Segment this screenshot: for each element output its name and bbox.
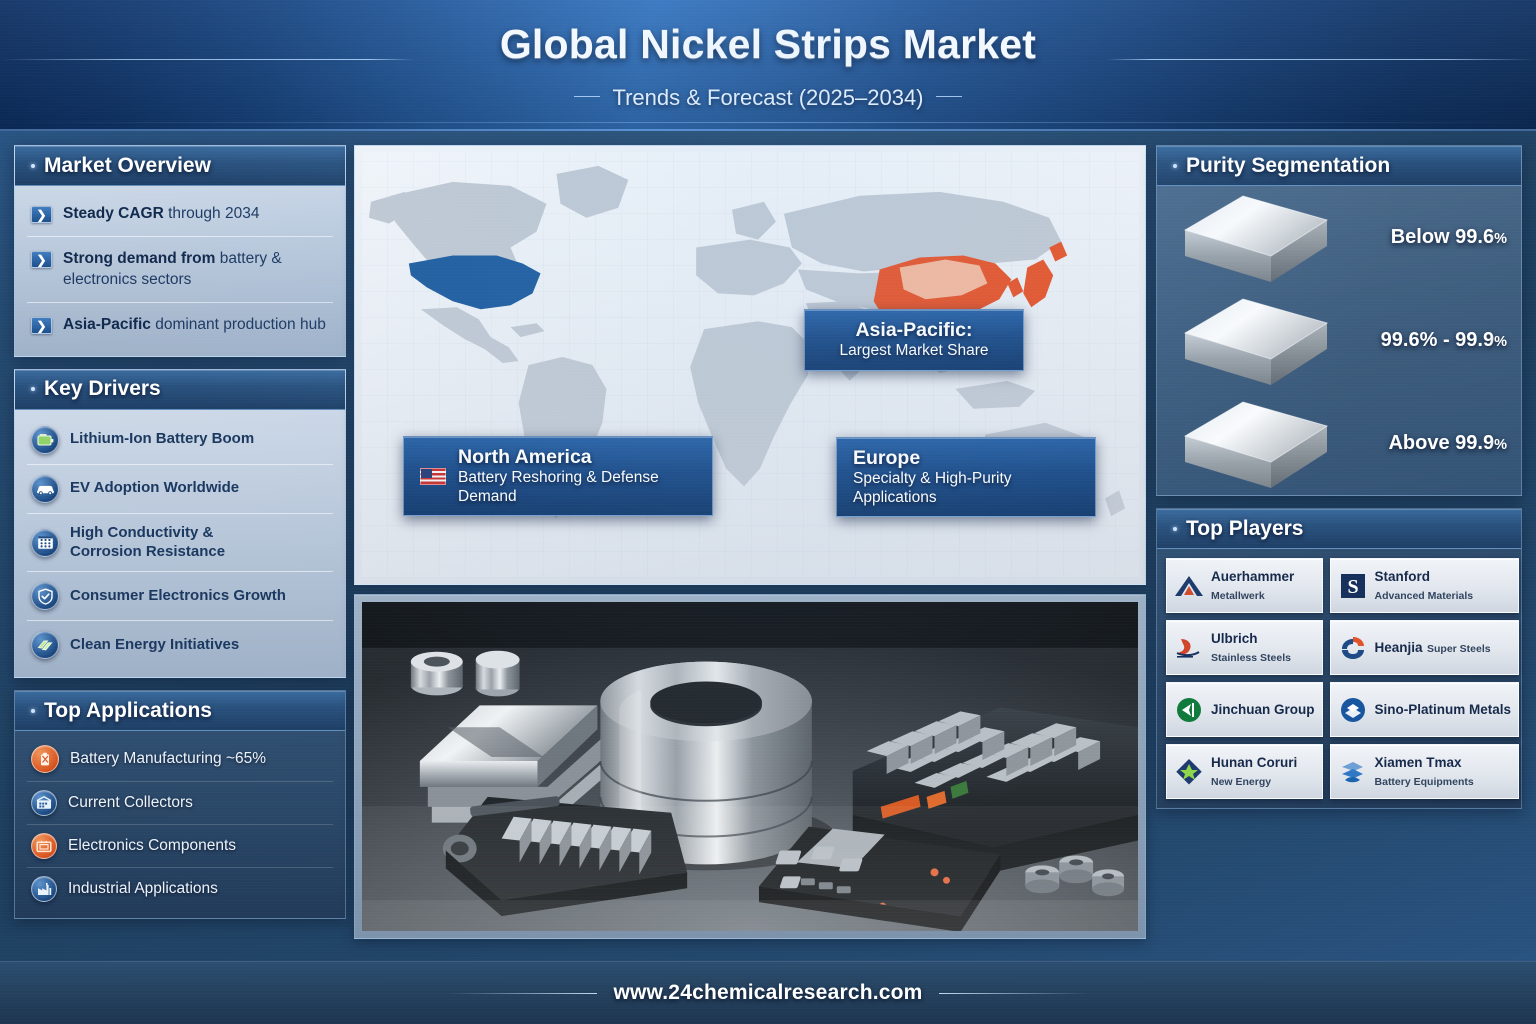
car-icon — [31, 475, 59, 503]
key-drivers-body: Lithium-Ion Battery Boom EV Adoption Wor… — [15, 410, 345, 678]
player-names: Ulbrich Stainless Steels — [1211, 630, 1315, 666]
player-card[interactable]: Sino-Platinum Metals — [1330, 682, 1520, 737]
purity-row[interactable]: Above 99.9% — [1157, 392, 1521, 495]
chevron-right-icon: ❯ — [31, 206, 52, 223]
driver-label: Clean Energy Initiatives — [70, 636, 239, 655]
market-overview-body: ❯ Steady CAGR through 2034 ❯ Strong dema… — [15, 186, 345, 356]
map-tag-sub: Battery Reshoring & Defense Demand — [458, 469, 696, 506]
player-sub: Battery Equipments — [1375, 776, 1474, 788]
player-name: Sino-Platinum Metals — [1375, 702, 1512, 717]
purity-segmentation-card: Purity Segmentation — [1156, 145, 1522, 496]
player-card[interactable]: S Stanford Advanced Materials — [1330, 558, 1520, 613]
purity-segmentation-header: Purity Segmentation — [1157, 146, 1521, 186]
header-banner: Global Nickel Strips Market Trends & For… — [0, 0, 1536, 131]
player-card[interactable]: Heanjia Super Steels — [1330, 620, 1520, 675]
chevron-right-icon: ❯ — [31, 317, 52, 334]
list-item[interactable]: Battery Manufacturing ~65% — [27, 737, 333, 782]
leaf-check-icon — [31, 631, 59, 659]
list-item[interactable]: Industrial Applications — [27, 868, 333, 910]
list-item[interactable]: ❯ Asia-Pacific dominant production hub — [27, 303, 333, 347]
sino-platinum-logo-icon — [1338, 695, 1368, 725]
purity-row[interactable]: Below 99.6% — [1157, 186, 1521, 289]
nickel-ingot-icon — [1181, 190, 1331, 286]
key-drivers-header: Key Drivers — [15, 370, 345, 410]
subtitle-text: Trends & Forecast (2025–2034) — [612, 85, 923, 110]
footer-line-right — [939, 993, 1089, 994]
purity-label: Above 99.9% — [1331, 432, 1521, 455]
nickel-ingot-icon — [1181, 396, 1331, 492]
player-names: Jinchuan Group — [1211, 701, 1315, 719]
right-sidebar: Purity Segmentation — [1156, 145, 1522, 950]
nickel-ingot-icon — [1181, 293, 1331, 389]
product-photo — [362, 602, 1138, 931]
driver-label: EV Adoption Worldwide — [70, 479, 239, 498]
footer-bar: www.24chemicalresearch.com — [0, 961, 1536, 1024]
chevron-right-icon: ❯ — [31, 251, 52, 268]
top-players-header: Top Players — [1157, 509, 1521, 549]
bullet-icon — [31, 387, 35, 391]
chip-grid-icon — [31, 529, 59, 557]
top-players-card: Top Players Auerhammer Metallwerk S — [1156, 508, 1522, 809]
overview-text: Strong demand from battery & electronics… — [63, 249, 331, 290]
footer-url: www.24chemicalresearch.com — [613, 981, 922, 1005]
top-applications-card: Top Applications Battery Manufacturing ~… — [14, 690, 346, 919]
player-name: Auerhammer — [1211, 569, 1294, 584]
subtitle-dash-left — [574, 96, 600, 97]
application-label: Battery Manufacturing ~65% — [70, 750, 266, 768]
map-tag-sub: Specialty & High-Purity Applications — [853, 470, 1079, 507]
player-card[interactable]: Auerhammer Metallwerk — [1166, 558, 1323, 613]
driver-label: Lithium-Ion Battery Boom — [70, 430, 254, 449]
player-name: Xiamen Tmax — [1375, 755, 1462, 770]
player-card[interactable]: Hunan Coruri New Energy — [1166, 744, 1323, 799]
list-item[interactable]: Lithium-Ion Battery Boom — [27, 416, 333, 465]
bullet-icon — [31, 164, 35, 168]
purity-segmentation-title: Purity Segmentation — [1186, 154, 1390, 178]
market-overview-title: Market Overview — [44, 154, 211, 178]
list-item[interactable]: ❯ Strong demand from battery & electroni… — [27, 237, 333, 303]
application-label: Electronics Components — [68, 837, 236, 855]
left-sidebar: Market Overview ❯ Steady CAGR through 20… — [14, 145, 346, 950]
player-name: Ulbrich — [1211, 631, 1258, 646]
player-card[interactable]: Ulbrich Stainless Steels — [1166, 620, 1323, 675]
world-map: Asia-Pacific: Largest Market Share North… — [361, 152, 1139, 578]
shield-check-icon — [31, 582, 59, 610]
driver-label: Consumer Electronics Growth — [70, 587, 286, 606]
list-item[interactable]: Consumer Electronics Growth — [27, 572, 333, 621]
application-label: Industrial Applications — [68, 880, 218, 898]
footer-line-left — [447, 993, 597, 994]
stanford-logo-icon: S — [1338, 571, 1368, 601]
us-flag-icon — [420, 468, 446, 485]
heanjia-logo-icon — [1338, 633, 1368, 663]
player-names: Xiamen Tmax Battery Equipments — [1375, 754, 1512, 790]
purity-row[interactable]: 99.6% - 99.9% — [1157, 289, 1521, 392]
hunan-coruri-logo-icon — [1174, 757, 1204, 787]
auerhammer-logo-icon — [1174, 571, 1204, 601]
player-card[interactable]: Xiamen Tmax Battery Equipments — [1330, 744, 1520, 799]
player-name: Hunan Coruri — [1211, 755, 1297, 770]
top-applications-header: Top Applications — [15, 691, 345, 731]
player-card[interactable]: Jinchuan Group — [1166, 682, 1323, 737]
map-tag-asia-pacific[interactable]: Asia-Pacific: Largest Market Share — [804, 309, 1024, 371]
top-applications-title: Top Applications — [44, 699, 212, 723]
list-item[interactable]: High Conductivity &Corrosion Resistance — [27, 514, 333, 573]
player-name: Stanford — [1375, 569, 1431, 584]
subtitle-dash-right — [936, 96, 962, 97]
product-photo-panel — [354, 594, 1146, 939]
battery-cell-icon — [31, 745, 59, 773]
map-tag-texts: North America Battery Reshoring & Defens… — [458, 446, 696, 506]
player-names: Hunan Coruri New Energy — [1211, 754, 1315, 790]
player-names: Auerhammer Metallwerk — [1211, 568, 1315, 604]
xiamen-tmax-logo-icon — [1338, 757, 1368, 787]
factory-icon — [31, 876, 57, 902]
overview-text: Steady CAGR through 2034 — [63, 204, 259, 224]
bullet-icon — [31, 709, 35, 713]
top-players-title: Top Players — [1186, 517, 1304, 541]
player-name: Heanjia — [1375, 640, 1423, 655]
market-overview-card: Market Overview ❯ Steady CAGR through 20… — [14, 145, 346, 357]
purity-label: Below 99.6% — [1331, 226, 1521, 249]
key-drivers-card: Key Drivers Lithium-Ion Battery Boom EV … — [14, 369, 346, 679]
player-sub: Advanced Materials — [1375, 590, 1474, 602]
battery-icon — [31, 426, 59, 454]
player-names: Sino-Platinum Metals — [1375, 701, 1512, 719]
list-item[interactable]: Clean Energy Initiatives — [27, 621, 333, 669]
overview-text: Asia-Pacific dominant production hub — [63, 315, 326, 335]
top-applications-body: Battery Manufacturing ~65% Current Colle… — [15, 731, 345, 918]
map-tag-north-america[interactable]: North America Battery Reshoring & Defens… — [403, 436, 713, 516]
world-map-panel: Asia-Pacific: Largest Market Share North… — [354, 145, 1146, 585]
player-sub: Metallwerk — [1211, 590, 1265, 602]
collector-icon — [31, 790, 57, 816]
list-item[interactable]: ❯ Steady CAGR through 2034 — [27, 192, 333, 237]
player-name: Jinchuan Group — [1211, 702, 1315, 717]
player-sub: Stainless Steels — [1211, 652, 1291, 664]
page-subtitle: Trends & Forecast (2025–2034) — [0, 85, 1536, 111]
player-sub: New Energy — [1211, 776, 1271, 788]
map-tag-title: Europe — [853, 447, 1079, 470]
product-photo-svg — [362, 602, 1138, 931]
application-label: Current Collectors — [68, 794, 193, 812]
map-tag-europe[interactable]: Europe Specialty & High-Purity Applicati… — [836, 437, 1096, 517]
player-names: Stanford Advanced Materials — [1375, 568, 1512, 604]
list-item[interactable]: EV Adoption Worldwide — [27, 465, 333, 514]
electronics-icon — [31, 833, 57, 859]
top-players-grid: Auerhammer Metallwerk S Stanford Advance… — [1157, 549, 1521, 808]
ulbrich-logo-icon — [1174, 633, 1204, 663]
infographic-page: Global Nickel Strips Market Trends & For… — [0, 0, 1536, 1024]
jinchuan-logo-icon — [1174, 695, 1204, 725]
map-tag-title: Asia-Pacific: — [821, 319, 1007, 342]
bullet-icon — [1173, 164, 1177, 168]
page-title: Global Nickel Strips Market — [0, 21, 1536, 68]
svg-text:S: S — [1347, 576, 1358, 598]
purity-label: 99.6% - 99.9% — [1331, 329, 1521, 352]
player-sub: Super Steels — [1427, 643, 1491, 655]
map-tag-sub: Largest Market Share — [821, 342, 1007, 361]
list-item[interactable]: Current Collectors — [27, 782, 333, 825]
list-item[interactable]: Electronics Components — [27, 825, 333, 868]
player-names: Heanjia Super Steels — [1375, 639, 1491, 657]
map-tag-title: North America — [458, 446, 696, 469]
driver-label: High Conductivity &Corrosion Resistance — [70, 524, 225, 562]
bullet-icon — [1173, 527, 1177, 531]
key-drivers-title: Key Drivers — [44, 377, 161, 401]
market-overview-header: Market Overview — [15, 146, 345, 186]
